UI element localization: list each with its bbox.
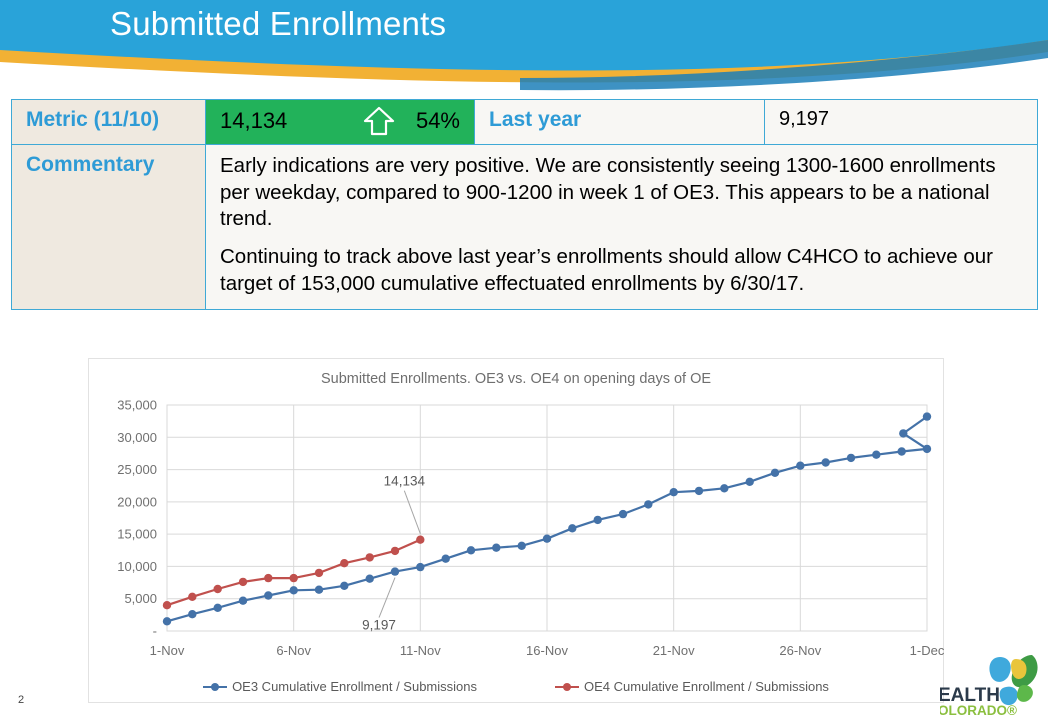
chart-data-point bbox=[923, 412, 931, 420]
metric-delta: 54% bbox=[416, 108, 460, 134]
chart-x-tick: 1-Nov bbox=[150, 643, 185, 658]
chart-data-point bbox=[188, 610, 196, 618]
header-banner: Submitted Enrollments bbox=[0, 0, 1048, 95]
metric-value: 14,134 bbox=[220, 108, 287, 133]
chart-data-point bbox=[720, 484, 728, 492]
chart-y-tick: 25,000 bbox=[117, 462, 157, 477]
chart-data-point bbox=[163, 617, 171, 625]
legend-item[interactable]: OE3 Cumulative Enrollment / Submissions bbox=[203, 679, 477, 694]
chart-data-point bbox=[568, 524, 576, 532]
commentary-label-cell: Commentary bbox=[12, 145, 206, 310]
chart-data-point bbox=[442, 555, 450, 563]
chart-data-point bbox=[391, 567, 399, 575]
legend-marker-icon bbox=[555, 682, 579, 692]
chart-data-point bbox=[340, 582, 348, 590]
last-year-label-cell: Last year bbox=[475, 100, 765, 145]
chart-data-point bbox=[416, 536, 424, 544]
logo-text-colorado: OLORADO® bbox=[940, 703, 1017, 717]
chart-data-point bbox=[796, 462, 804, 470]
chart-data-point bbox=[771, 469, 779, 477]
chart-data-point bbox=[518, 542, 526, 550]
chart-data-point bbox=[315, 586, 323, 594]
legend-label: OE4 Cumulative Enrollment / Submissions bbox=[584, 679, 829, 694]
slide-number: 2 bbox=[18, 694, 24, 706]
chart-y-tick: 5,000 bbox=[124, 591, 157, 606]
legend-item[interactable]: OE4 Cumulative Enrollment / Submissions bbox=[555, 679, 829, 694]
chart-data-point bbox=[264, 591, 272, 599]
commentary-text-cell: Early indications are very positive. We … bbox=[206, 145, 1038, 310]
logo-mark-icon: EALTH OLORADO® bbox=[940, 655, 1048, 717]
chart-data-point bbox=[188, 593, 196, 601]
arrow-up-icon bbox=[362, 106, 396, 142]
chart-data-point bbox=[290, 574, 298, 582]
chart-data-point bbox=[695, 487, 703, 495]
chart-data-point bbox=[746, 478, 754, 486]
chart-data-point bbox=[239, 597, 247, 605]
table-row-commentary: Commentary Early indications are very po… bbox=[12, 145, 1038, 310]
chart-gridlines bbox=[167, 405, 927, 631]
chart-data-point bbox=[872, 451, 880, 459]
chart-y-tick: 20,000 bbox=[117, 494, 157, 509]
chart-data-point bbox=[416, 563, 424, 571]
organization-logo: EALTH OLORADO® bbox=[940, 655, 1048, 717]
chart-data-point bbox=[619, 510, 627, 518]
legend-label: OE3 Cumulative Enrollment / Submissions bbox=[232, 679, 477, 694]
chart-data-point bbox=[594, 516, 602, 524]
chart-data-point bbox=[543, 535, 551, 543]
chart-annotation: 14,134 bbox=[384, 474, 426, 489]
chart-annotation: 9,197 bbox=[362, 618, 396, 633]
chart-data-point bbox=[492, 544, 500, 552]
chart-x-tick: 6-Nov bbox=[276, 643, 311, 658]
metric-value-cell: 14,134 54% bbox=[206, 100, 475, 145]
commentary-paragraph-2: Continuing to track above last year’s en… bbox=[220, 244, 1021, 297]
chart-x-tick: 21-Nov bbox=[653, 643, 695, 658]
chart-x-tick: 11-Nov bbox=[400, 643, 441, 658]
legend-marker-icon bbox=[203, 682, 227, 692]
chart-legend: OE3 Cumulative Enrollment / SubmissionsO… bbox=[89, 679, 943, 694]
chart-y-axis-labels: -5,00010,00015,00020,00025,00030,00035,0… bbox=[117, 398, 157, 639]
line-chart: -5,00010,00015,00020,00025,00030,00035,0… bbox=[89, 359, 945, 704]
chart-data-point bbox=[163, 601, 171, 609]
slide: Submitted Enrollments Metric (11/10) 14,… bbox=[0, 0, 1048, 717]
chart-data-point bbox=[239, 578, 247, 586]
chart-data-point bbox=[670, 488, 678, 496]
chart-y-tick: 30,000 bbox=[117, 430, 157, 445]
chart-x-tick: 16-Nov bbox=[526, 643, 568, 658]
chart-y-tick: - bbox=[153, 624, 157, 639]
chart-data-point bbox=[899, 429, 907, 437]
metric-label-cell: Metric (11/10) bbox=[12, 100, 206, 145]
table-row-metric: Metric (11/10) 14,134 54% Last year 9,19… bbox=[12, 100, 1038, 145]
chart-data-point bbox=[315, 569, 323, 577]
chart-data-point bbox=[847, 454, 855, 462]
chart-y-tick: 10,000 bbox=[117, 559, 157, 574]
chart-data-point bbox=[822, 458, 830, 466]
chart-data-point bbox=[214, 604, 222, 612]
chart-x-axis-labels: 1-Nov6-Nov11-Nov16-Nov21-Nov26-Nov1-Dec bbox=[150, 643, 945, 658]
chart-data-point bbox=[214, 585, 222, 593]
chart-data-point bbox=[391, 547, 399, 555]
chart-y-tick: 15,000 bbox=[117, 527, 157, 542]
chart-panel: Submitted Enrollments. OE3 vs. OE4 on op… bbox=[88, 358, 944, 703]
commentary-paragraph-1: Early indications are very positive. We … bbox=[220, 153, 1021, 233]
chart-data-point bbox=[923, 445, 931, 453]
metric-commentary-table: Metric (11/10) 14,134 54% Last year 9,19… bbox=[11, 99, 1038, 310]
last-year-value-cell: 9,197 bbox=[765, 100, 1038, 145]
chart-data-point bbox=[340, 559, 348, 567]
chart-data-point bbox=[644, 500, 652, 508]
chart-data-point bbox=[290, 586, 298, 594]
chart-data-point bbox=[366, 575, 374, 583]
chart-x-tick: 26-Nov bbox=[779, 643, 821, 658]
chart-data-point bbox=[898, 447, 906, 455]
page-title: Submitted Enrollments bbox=[110, 5, 446, 43]
chart-y-tick: 35,000 bbox=[117, 398, 157, 413]
chart-data-point bbox=[264, 574, 272, 582]
chart-data-point bbox=[467, 546, 475, 554]
chart-data-point bbox=[366, 553, 374, 561]
